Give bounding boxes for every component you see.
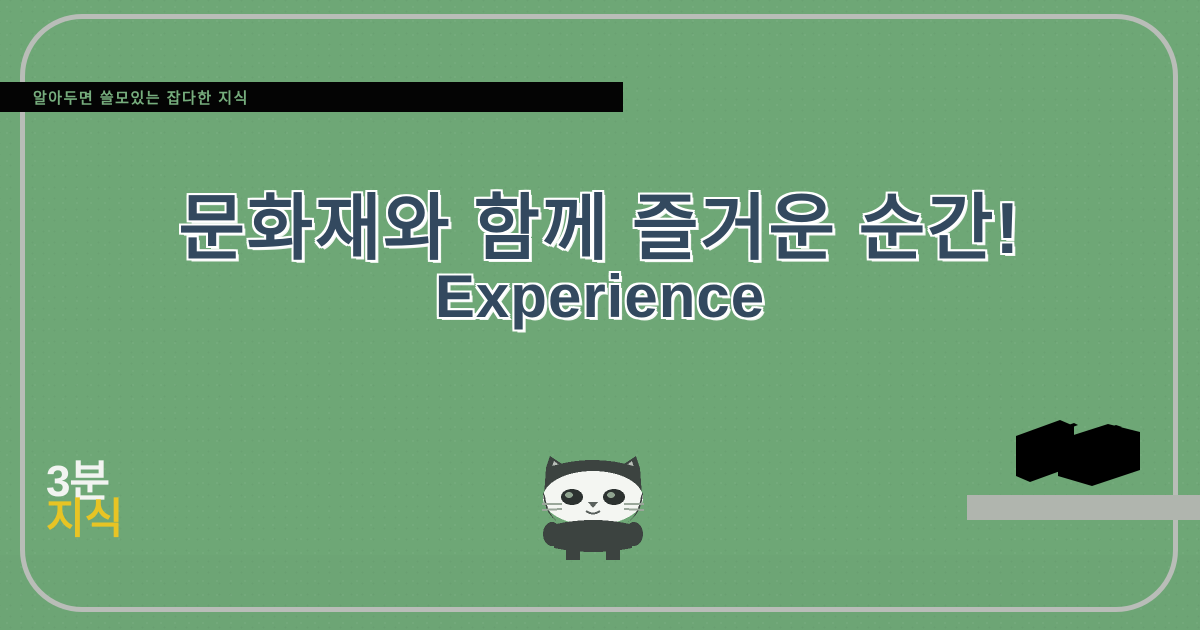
headline-english: Experience (0, 269, 1200, 325)
headline-korean: 문화재와 함께 즐거운 순간! (0, 196, 1200, 263)
top-banner: 알아두면 쓸모있는 잡다한 지식 (0, 82, 623, 112)
books-icon (1012, 414, 1144, 486)
brand-line-bottom: 지식 (46, 500, 123, 539)
shelf-bar (967, 495, 1200, 520)
ground-band (0, 555, 1200, 630)
banner-label: 알아두면 쓸모있는 잡다한 지식 (33, 87, 249, 108)
headline-block: 문화재와 함께 즐거운 순간! Experience (0, 196, 1200, 325)
cat-mascot-icon (528, 452, 658, 562)
thumbnail-card: 알아두면 쓸모있는 잡다한 지식 문화재와 함께 즐거운 순간! Experie… (0, 0, 1200, 630)
brand-logo: 3분 지식 (46, 462, 123, 539)
